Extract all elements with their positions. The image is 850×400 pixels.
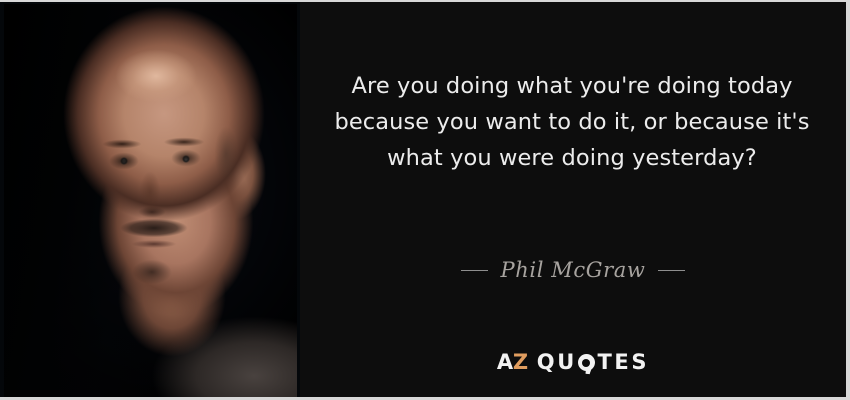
speech-bubble-icon-hole bbox=[582, 359, 590, 367]
portrait-frame bbox=[4, 4, 297, 399]
brand-logo-az: A Z bbox=[497, 352, 528, 373]
brand-logo-quotes-suffix: TES bbox=[597, 352, 649, 373]
content-panel: Are you doing what you're doing today be… bbox=[300, 2, 846, 400]
brand-logo-quotes: QU TES bbox=[537, 352, 649, 373]
brand-logo-letter-a: A bbox=[497, 352, 513, 373]
brand-logo-wordmark: A Z QU TES bbox=[497, 352, 649, 373]
brand-logo[interactable]: A Z QU TES bbox=[300, 352, 846, 373]
attribution: Phil McGraw bbox=[300, 258, 846, 282]
brand-logo-letter-z: Z bbox=[513, 352, 528, 373]
quote-card: Are you doing what you're doing today be… bbox=[0, 0, 850, 400]
speech-bubble-icon bbox=[578, 354, 595, 371]
author-name: Phil McGraw bbox=[501, 258, 646, 282]
author-portrait-facial-features bbox=[4, 4, 297, 399]
attribution-rule-left bbox=[461, 270, 488, 271]
attribution-rule-right bbox=[658, 270, 685, 271]
portrait-panel bbox=[0, 2, 300, 400]
brand-logo-quotes-prefix: QU bbox=[537, 352, 577, 373]
quote-text: Are you doing what you're doing today be… bbox=[322, 68, 822, 176]
